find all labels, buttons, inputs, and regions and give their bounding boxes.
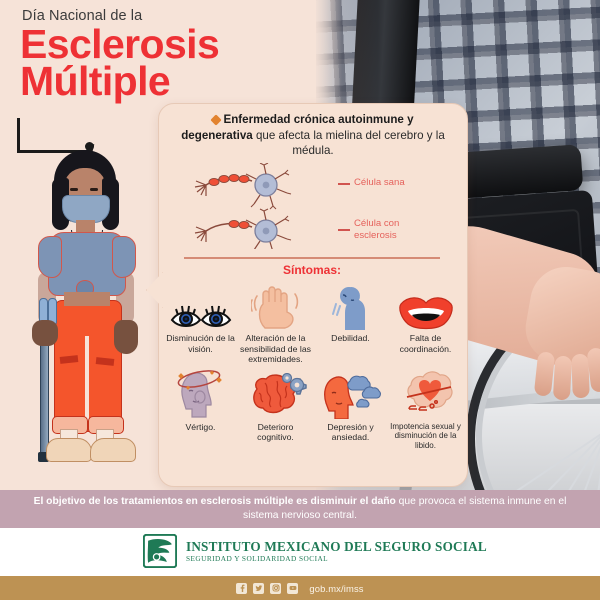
symptom-label: Vértigo. [185, 419, 217, 433]
sclerotic-neuron-icon [195, 209, 291, 249]
symptom-label: Debilidad. [330, 330, 371, 344]
orange-diamond-icon [211, 114, 222, 125]
brain-gears-icon [239, 373, 313, 419]
symptom-label: Depresión y ansiedad. [313, 419, 388, 443]
clouds-head-icon [314, 373, 388, 419]
symptom-item: Disminución de la visión. [163, 284, 238, 365]
imss-branding: INSTITUTO MEXICANO DEL SEGURO SOCIAL SEG… [143, 534, 487, 568]
website-url[interactable]: gob.mx/imss [309, 583, 363, 594]
hand-right [114, 320, 138, 354]
broken-heart-icon [389, 373, 463, 419]
symptoms-row-1: Disminución de la visión. Alteración de [163, 284, 463, 365]
symptom-label: Falta de coordinación. [388, 330, 463, 354]
neuron-label-healthy: Célula sana [354, 177, 405, 189]
hand-icon [239, 284, 313, 330]
symptom-label: Impotencia sexual y disminución de la li… [388, 419, 463, 451]
eyes-icon [164, 284, 238, 330]
youtube-icon[interactable] [287, 583, 298, 594]
neuron-diagram-group: Célula sana Célula con esclerosis [178, 163, 448, 249]
facebook-icon[interactable] [236, 583, 247, 594]
label-leader-line [338, 183, 350, 185]
card-lead-text: Enfermedad crónica autoinmune y degenera… [178, 112, 448, 159]
hand-left [32, 320, 58, 346]
instagram-icon[interactable] [270, 583, 281, 594]
weak-person-icon [314, 284, 388, 330]
symptom-item: Depresión y ansiedad. [313, 373, 388, 451]
symptoms-heading: Síntomas: [158, 263, 466, 277]
dizzy-head-icon [164, 373, 238, 419]
imss-eagle-logo [143, 534, 177, 568]
institution-name: INSTITUTO MEXICANO DEL SEGURO SOCIAL [186, 539, 487, 554]
person-with-mask-and-cane-illustration [10, 140, 170, 490]
twitter-icon[interactable] [253, 583, 264, 594]
page-title-line2: Múltiple [20, 62, 170, 100]
symptom-item: Vértigo. [163, 373, 238, 451]
shoe-right [90, 438, 136, 462]
eye-right [90, 188, 98, 191]
lead-rest: que afecta la mielina del cerebro y la m… [253, 129, 445, 158]
neuron-diagrams-svg [184, 163, 334, 249]
eye-left [70, 188, 78, 191]
card-divider [184, 257, 440, 259]
lips-icon [389, 284, 463, 330]
symptom-item: Deterioro cognitivo. [238, 373, 313, 451]
objective-banner-text: El objetivo de los tratamientos en escle… [20, 495, 580, 523]
sleeve-left [38, 236, 62, 278]
symptom-item: Impotencia sexual y disminución de la li… [388, 373, 463, 451]
symptom-label: Alteración de la sensibilidad de las ext… [238, 330, 313, 365]
sleeve-right [112, 236, 136, 278]
infographic-poster: Día Nacional de la Esclerosis Múltiple [0, 0, 600, 600]
banner-bold-text: El objetivo de los tratamientos en escle… [34, 496, 396, 507]
symptom-label: Disminución de la visión. [163, 330, 238, 354]
shoe-left [46, 438, 92, 462]
symptoms-row-2: Vértigo. [163, 373, 463, 451]
institution-tagline: SEGURIDAD Y SOLIDARIDAD SOCIAL [186, 554, 487, 563]
midriff [64, 292, 110, 306]
symptom-label: Deterioro cognitivo. [238, 419, 313, 443]
symptom-item: Debilidad. [313, 284, 388, 365]
symptom-item: Alteración de la sensibilidad de las ext… [238, 284, 313, 365]
symptoms-grid: Disminución de la visión. Alteración de [163, 284, 463, 450]
pants-leg-gap [85, 336, 89, 428]
neuron-label-sclerotic: Célula con esclerosis [354, 218, 438, 241]
symptom-item: Falta de coordinación. [388, 284, 463, 365]
social-links: gob.mx/imss [0, 576, 600, 600]
label-leader-line [338, 229, 350, 231]
healthy-neuron-icon [195, 163, 291, 209]
face-mask-icon [62, 195, 110, 223]
